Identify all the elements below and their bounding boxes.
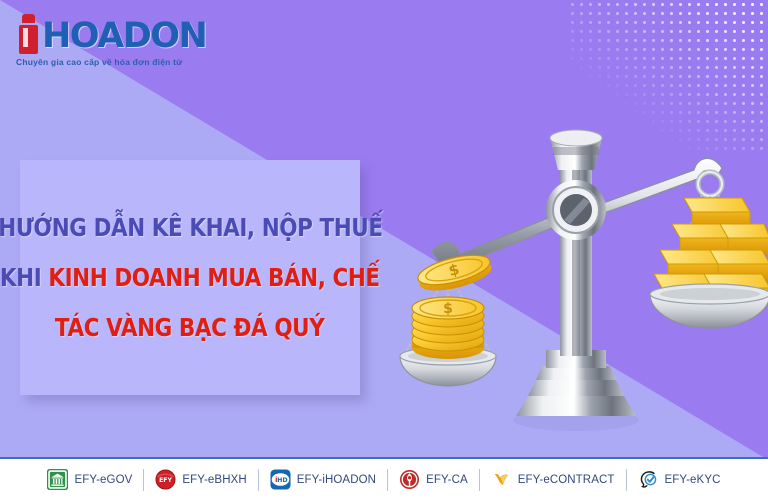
svg-text:$: $ (443, 301, 453, 317)
svg-text:EFY: EFY (160, 477, 173, 484)
footer-item-efy-egov[interactable]: EFY-eGOV (36, 466, 143, 494)
logo-tagline: Chuyên gia cao cấp về hóa đơn điện tử (16, 57, 232, 67)
footer-item-efy-ekyc[interactable]: EFY-eKYC (627, 466, 732, 494)
footer-product-bar: EFY-eGOV EFY EFY-eBHXH i HD EFY-iHOADON (0, 457, 768, 500)
footer-label: EFY-iHOADON (297, 474, 376, 486)
headline-line-1: HƯỚNG DẪN KÊ KHAI, NỘP THUẾ (0, 203, 382, 253)
face-check-icon (638, 469, 659, 490)
svg-text:HD: HD (277, 477, 288, 484)
headline-segment: TÁC VÀNG BẠC ĐÁ QUÝ (55, 313, 324, 342)
footer-item-efy-ca[interactable]: EFY-CA (388, 466, 479, 494)
headline-line-3: TÁC VÀNG BẠC ĐÁ QUÝ (55, 303, 324, 353)
headline-line-2: KHI KINH DOANH MUA BÁN, CHẾ (0, 253, 380, 303)
headline-segment: KHI (0, 263, 48, 292)
headline-card: HƯỚNG DẪN KÊ KHAI, NỘP THUẾ KHI KINH DOA… (20, 160, 360, 395)
footer-item-efy-ebhxh[interactable]: EFY EFY-eBHXH (144, 466, 257, 494)
ihoadon-logo[interactable]: HOADON Chuyên gia cao cấp về hóa đơn điệ… (16, 12, 232, 72)
bank-building-icon (47, 469, 68, 490)
logo-i-mark-icon (16, 14, 42, 54)
ihd-square-icon: i HD (270, 469, 291, 490)
footer-label: EFY-eGOV (74, 474, 132, 486)
balance-scale-illustration: $ $ (398, 98, 768, 438)
footer-item-efy-econtract[interactable]: EFY-eCONTRACT (480, 466, 626, 494)
orange-check-icon (491, 469, 512, 490)
seal-flame-icon (399, 469, 420, 490)
logo-wordmark-text: HOADON (42, 18, 206, 54)
footer-label: EFY-eKYC (665, 474, 721, 486)
logo-wordmark-row: HOADON (16, 12, 232, 54)
promo-banner: HOADON Chuyên gia cao cấp về hóa đơn điệ… (0, 0, 768, 500)
headline-segment: HƯỚNG DẪN KÊ KHAI, NỘP THUẾ (0, 213, 382, 242)
footer-label: EFY-eBHXH (182, 474, 246, 486)
footer-item-efy-ihoadon[interactable]: i HD EFY-iHOADON (259, 466, 387, 494)
headline-segment: KINH DOANH MUA BÁN, CHẾ (49, 263, 380, 292)
efy-circle-icon: EFY (155, 469, 176, 490)
footer-label: EFY-CA (426, 474, 468, 486)
footer-label: EFY-eCONTRACT (518, 474, 615, 486)
